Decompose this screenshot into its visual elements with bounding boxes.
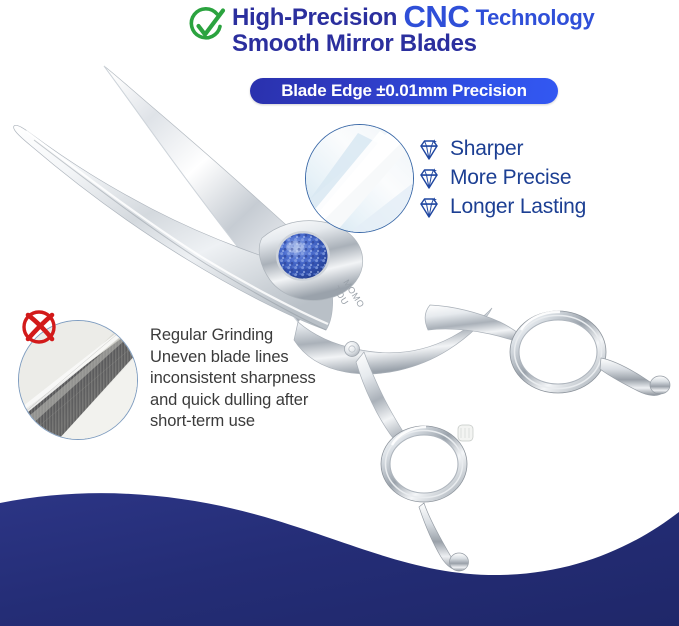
diamond-icon [417, 167, 441, 189]
benefit-item-more-precise: More Precise [417, 163, 586, 192]
drawback-line: Uneven blade lines [150, 347, 360, 369]
upper-finger-ring [510, 311, 606, 393]
infographic-canvas: MOMO TOU [0, 0, 679, 626]
blue-gem-inlay [276, 231, 330, 281]
drawback-line: inconsistent sharpness [150, 368, 360, 390]
headline-high-precision: High-Precision [232, 4, 397, 31]
benefit-label: Sharper [450, 137, 523, 161]
headline-line-1: High-Precision CNC Technology [232, 4, 594, 30]
drawback-line: short-term use [150, 411, 360, 433]
benefits-list: Sharper More Precise [417, 134, 586, 221]
diamond-icon [417, 138, 441, 160]
drawback-line: Regular Grinding [150, 325, 360, 347]
lower-finger-ring [381, 426, 467, 502]
diamond-icon [417, 196, 441, 218]
headline-cnc: CNC [404, 0, 470, 34]
x-circle-icon [18, 305, 60, 347]
drawback-text-block: Regular Grinding Uneven blade lines inco… [150, 325, 360, 433]
rubber-stopper [458, 425, 473, 441]
benefit-item-sharper: Sharper [417, 134, 586, 163]
headline-technology: Technology [476, 5, 595, 30]
lower-tang-rest [419, 503, 469, 571]
benefit-label: More Precise [450, 166, 571, 190]
headline-line-2: Smooth Mirror Blades [232, 30, 594, 57]
mirror-finish-closeup [305, 124, 414, 233]
precision-badge: Blade Edge ±0.01mm Precision [250, 78, 558, 104]
precision-badge-label: Blade Edge ±0.01mm Precision [281, 81, 527, 101]
mirror-finish-image [306, 125, 413, 232]
benefit-label: Longer Lasting [450, 195, 586, 219]
check-circle-icon [186, 6, 226, 48]
headline-block: High-Precision CNC Technology Smooth Mir… [186, 4, 676, 57]
benefit-item-longer-lasting: Longer Lasting [417, 192, 586, 221]
drawback-line: and quick dulling after [150, 390, 360, 412]
upper-tang-rest [600, 358, 670, 395]
